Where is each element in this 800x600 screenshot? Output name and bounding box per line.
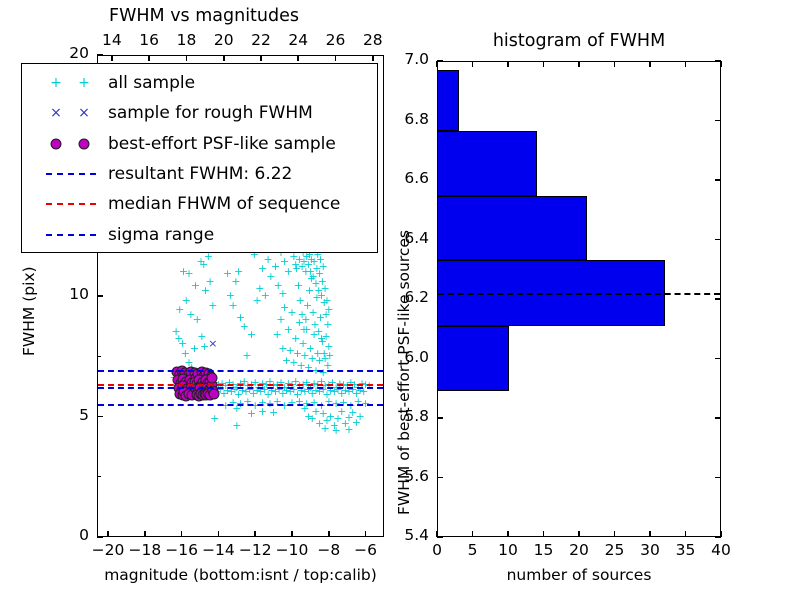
figure-canvas: FWHM vs magnitudes −20−18−16−14−12−10−8−… [0, 0, 800, 600]
axis-tick [715, 536, 721, 538]
legend-entry-label: resultant FWHM: 6.22 [108, 164, 292, 184]
scatter-point-all-sample: + [294, 282, 303, 290]
left-xtick-label: −18 [128, 543, 161, 559]
histogram-bar [438, 196, 587, 260]
left-top-xtick-label: 16 [139, 33, 159, 49]
right-xtick-label: 40 [711, 543, 731, 559]
legend-dashed-red-line-icon [46, 203, 96, 205]
legend-circle-icon [51, 138, 62, 149]
right-ytick-label: 7.0 [404, 52, 429, 68]
resultant-fwhm-line [98, 387, 383, 389]
legend-plus-icon: + [78, 76, 90, 90]
right-panel-plot-area [438, 62, 720, 536]
left-top-xtick-label: 14 [102, 33, 122, 49]
scatter-point-all-sample: + [325, 352, 334, 360]
legend-entry-label: sigma range [108, 225, 214, 245]
axis-tick [720, 61, 722, 67]
left-xtick-label: −6 [354, 543, 377, 559]
right-xtick-label: 15 [534, 543, 554, 559]
legend-entry: sigma range [22, 220, 377, 250]
legend: ++all sample××sample for rough FWHMbest-… [21, 63, 378, 253]
sigma-range-lower-line [98, 404, 383, 406]
scatter-point-all-sample: + [242, 352, 251, 360]
scatter-point-all-sample: + [231, 278, 240, 286]
left-ytick-label: 0 [79, 528, 89, 544]
scatter-point-all-sample: + [193, 316, 202, 324]
right-ytick-label: 6.8 [404, 112, 429, 128]
right-xtick-label: 20 [569, 543, 589, 559]
scatter-point-psf-like [208, 388, 219, 399]
scatter-point-all-sample: + [307, 275, 316, 283]
legend-entry: ××sample for rough FWHM [22, 98, 377, 128]
legend-entry-label: all sample [108, 73, 195, 93]
histogram-bar [438, 131, 537, 196]
left-xtick-label: −8 [317, 543, 340, 559]
scatter-point-all-sample: + [191, 282, 200, 290]
scatter-point-all-sample: + [184, 270, 193, 278]
right-xtick-label: 0 [432, 543, 442, 559]
sigma-range-upper-line [98, 370, 383, 372]
legend-entry: resultant FWHM: 6.22 [22, 159, 377, 189]
scatter-point-all-sample: + [321, 333, 330, 341]
left-top-xtick-label: 22 [251, 33, 271, 49]
right-panel-ylabel: FWHM of best-effort PSF-like sources [397, 230, 413, 515]
scatter-point-all-sample: + [312, 294, 321, 302]
scatter-point-all-sample: + [201, 287, 210, 295]
histogram-bar [438, 70, 459, 131]
scatter-point-all-sample: + [208, 302, 217, 310]
scatter-point-all-sample: + [261, 292, 270, 300]
scatter-point-all-sample: + [247, 331, 256, 339]
scatter-point-psf-like [206, 372, 217, 383]
histogram-bar [438, 326, 509, 391]
scatter-point-all-sample: + [321, 425, 330, 433]
right-ytick-label: 5.4 [404, 528, 429, 544]
right-panel-title: histogram of FWHM [493, 33, 665, 51]
histogram-median-line [438, 293, 720, 295]
scatter-point-all-sample: + [271, 263, 280, 271]
median-fwhm-line [98, 384, 383, 386]
left-xtick-label: −16 [165, 543, 198, 559]
scatter-point-all-sample: + [273, 331, 282, 339]
right-xtick-label: 30 [640, 543, 660, 559]
axis-tick [97, 536, 103, 538]
legend-dashdot-blue-line-icon [46, 234, 96, 236]
scatter-point-all-sample: + [210, 415, 219, 423]
scatter-point-all-sample: + [319, 263, 328, 271]
scatter-point-all-sample: + [344, 426, 353, 434]
left-top-xtick-label: 28 [363, 33, 383, 49]
legend-circle-icon [79, 138, 90, 149]
scatter-point-all-sample: + [332, 427, 341, 435]
scatter-point-all-sample: + [292, 265, 301, 273]
scatter-point-all-sample: + [234, 268, 243, 276]
left-ytick-label: 5 [79, 408, 89, 424]
left-xtick-label: −10 [276, 543, 309, 559]
legend-plus-icon: + [50, 76, 62, 90]
scatter-point-all-sample: + [299, 326, 308, 334]
legend-entry: median FHWM of sequence [22, 189, 377, 219]
left-xtick-label: −14 [202, 543, 235, 559]
left-panel-title: FWHM vs magnitudes [109, 8, 299, 26]
right-xtick-label: 5 [468, 543, 478, 559]
scatter-point-rough-fwhm: × [208, 340, 217, 348]
legend-cross-icon: × [50, 106, 62, 120]
left-panel-xlabel: magnitude (bottom:isnt / top:calib) [104, 568, 377, 584]
right-ytick-label: 6.6 [404, 171, 429, 187]
scatter-point-all-sample: + [316, 314, 325, 322]
left-ytick-label: 20 [69, 46, 89, 62]
scatter-point-all-sample: + [204, 253, 213, 261]
left-top-xtick-label: 24 [288, 33, 308, 49]
scatter-point-all-sample: + [355, 413, 364, 421]
scatter-point-all-sample: + [321, 285, 330, 293]
legend-dashed-blue-line-icon [46, 173, 96, 175]
legend-entry-label: median FHWM of sequence [108, 194, 340, 214]
legend-entry: best-effort PSF-like sample [22, 129, 377, 159]
right-xtick-label: 35 [676, 543, 696, 559]
scatter-point-all-sample: + [278, 290, 287, 298]
legend-cross-icon: × [78, 106, 90, 120]
left-top-xtick-label: 18 [177, 33, 197, 49]
left-top-xtick-label: 20 [214, 33, 234, 49]
scatter-point-all-sample: + [190, 345, 199, 353]
scatter-point-all-sample: + [229, 302, 238, 310]
scatter-point-all-sample: + [232, 422, 241, 430]
left-xtick-label: −12 [239, 543, 272, 559]
left-ytick-label: 10 [69, 287, 89, 303]
right-panel-xlabel: number of sources [507, 568, 652, 584]
left-panel-ylabel: FWHM (pix) [22, 267, 38, 357]
scatter-point-all-sample: + [175, 306, 184, 314]
left-top-xtick-label: 26 [326, 33, 346, 49]
scatter-point-all-sample: + [182, 297, 191, 305]
right-xtick-label: 10 [498, 543, 518, 559]
legend-entry-label: sample for rough FWHM [108, 103, 313, 123]
legend-entry: ++all sample [22, 68, 377, 98]
legend-entry-label: best-effort PSF-like sample [108, 134, 336, 154]
right-xtick-label: 25 [605, 543, 625, 559]
scatter-point-all-sample: + [324, 306, 333, 314]
scatter-point-all-sample: + [206, 278, 215, 286]
left-xtick-label: −20 [92, 543, 125, 559]
axis-tick [437, 536, 443, 538]
